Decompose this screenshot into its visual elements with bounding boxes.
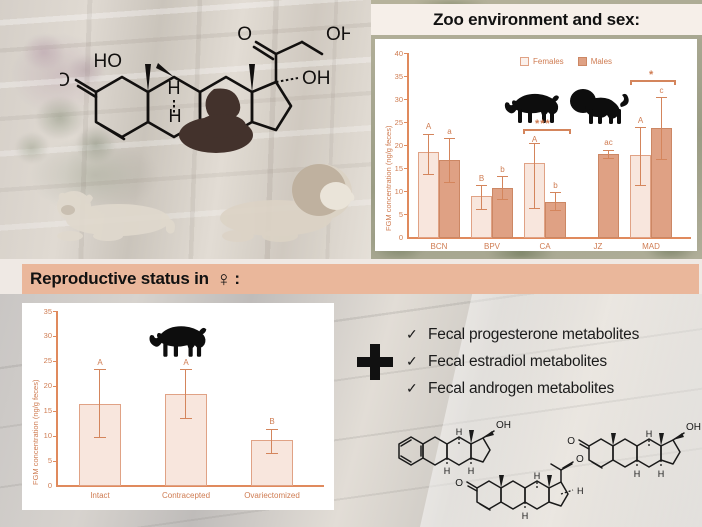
check-icon: ✓: [406, 380, 420, 397]
list-item: ✓ Fecal estradiol metabolites: [406, 353, 696, 371]
legend-label-males: Males: [591, 57, 612, 66]
zoo-sex-chart-card: FGM concentration (ng/g feces) 40 35 30 …: [375, 39, 697, 251]
zoo-ytick-35: 35: [381, 73, 403, 81]
svg-text:O: O: [576, 454, 584, 465]
metabolites-checklist: ✓ Fecal progesterone metabolites ✓ Fecal…: [406, 326, 696, 407]
svg-text:H: H: [646, 429, 653, 439]
zoo-ytick-20: 20: [381, 142, 403, 150]
zoo-ytick-mark-15: [404, 168, 408, 169]
errcap-bottom-intact: [94, 437, 106, 438]
errbar-mad-female: [640, 127, 641, 186]
svg-text:HO: HO: [94, 51, 123, 72]
repro-ytick-mark-25: [53, 361, 57, 362]
repro-ytick-0: 0: [30, 482, 52, 490]
repro-ytick-mark-20: [53, 386, 57, 387]
svg-text:H: H: [577, 486, 584, 496]
errcap-top-contracepted: [180, 369, 192, 370]
repro-ytick-mark-5: [53, 461, 57, 462]
repro-ytick-10: 10: [30, 432, 52, 440]
svg-text:OH: OH: [302, 68, 331, 89]
svg-text:H: H: [522, 511, 529, 521]
errcap-bottom-contracepted: [180, 418, 192, 419]
xtick-jz: JZ: [574, 243, 622, 251]
letter-intact: A: [79, 359, 121, 367]
errcap-bottom-bcn-female: [423, 174, 434, 175]
letter-jz-male: ac: [598, 139, 619, 147]
svg-text:O: O: [567, 436, 575, 447]
svg-text:H: H: [658, 469, 665, 479]
zoo-chart-legend: Females Males: [520, 57, 612, 66]
legend-swatch-females: [520, 57, 529, 66]
repro-ytick-mark-10: [53, 436, 57, 437]
errcap-top-bpv-female: [476, 185, 487, 186]
errbar-ca-male: [555, 192, 556, 211]
progesterone-molecule-structure: [467, 462, 573, 510]
legend-item-males: Males: [578, 57, 612, 66]
errbar-bcn-female: [428, 134, 429, 175]
repro-ytick-mark-30: [53, 336, 57, 337]
svg-text:O: O: [60, 70, 70, 91]
repro-title-suffix: :: [234, 269, 239, 289]
legend-label-females: Females: [533, 57, 564, 66]
legend-swatch-males: [578, 57, 587, 66]
zoo-ytick-30: 30: [381, 96, 403, 104]
bar-jz-male: [598, 154, 619, 238]
xtick-contracepted: Contracepted: [151, 492, 221, 500]
venus-symbol-icon: ♀: [216, 269, 232, 290]
lioness-silhouette-icon-repro: [144, 319, 212, 361]
errcap-bottom-bpv-male: [497, 199, 508, 200]
errcap-bottom-ca-female: [529, 208, 540, 209]
letter-bcn-male: a: [439, 128, 460, 136]
letter-bcn-female: A: [418, 123, 439, 131]
letter-mad-male: c: [651, 87, 672, 95]
reproductive-status-title-bar: Reproductive status in ♀ :: [22, 264, 699, 294]
letter-ca-male: b: [545, 182, 566, 190]
svg-text:H: H: [534, 471, 541, 481]
repro-ytick-5: 5: [30, 457, 52, 465]
errcap-bottom-mad-male: [656, 159, 667, 160]
letter-ca-female: A: [524, 136, 545, 144]
repro-title-prefix: Reproductive status in: [30, 269, 209, 289]
letter-bpv-male: b: [492, 166, 513, 174]
xtick-ca: CA: [521, 243, 569, 251]
check-icon: ✓: [406, 353, 420, 370]
xtick-bcn: BCN: [415, 243, 463, 251]
zoo-panel-title: Zoo environment and sex:: [371, 4, 702, 35]
male-lion-silhouette-icon: [565, 87, 629, 129]
list-item: ✓ Fecal progesterone metabolites: [406, 326, 696, 344]
errbar-mad-male: [661, 97, 662, 160]
check-icon: ✓: [406, 326, 420, 343]
errbar-bpv-male: [502, 176, 503, 200]
letter-contracepted: A: [165, 359, 207, 367]
errcap-bottom-ovariectomized: [266, 453, 278, 454]
zoo-ytick-5: 5: [381, 211, 403, 219]
feces-icon: [170, 85, 260, 160]
svg-text:O: O: [455, 478, 463, 489]
zoo-ytick-mark-10: [404, 191, 408, 192]
errcap-bottom-jz-male: [603, 158, 614, 159]
repro-ytick-30: 30: [30, 332, 52, 340]
graphical-abstract-poster: HO H H O O OH: [0, 0, 702, 527]
errcap-top-bcn-female: [423, 134, 434, 135]
zoo-chart-y-axis: [407, 53, 409, 239]
zoo-ytick-15: 15: [381, 165, 403, 173]
svg-text:H: H: [456, 427, 463, 437]
list-item-label: Fecal progesterone metabolites: [428, 326, 639, 344]
xtick-mad: MAD: [627, 243, 675, 251]
errbar-bcn-male: [449, 138, 450, 183]
errcap-bottom-bcn-male: [444, 182, 455, 183]
errcap-top-mad-female: [635, 127, 646, 128]
repro-ytick-15: 15: [30, 407, 52, 415]
zoo-ytick-mark-30: [404, 99, 408, 100]
zoo-ytick-mark-35: [404, 76, 408, 77]
repro-ytick-35: 35: [30, 308, 52, 316]
svg-text:H: H: [444, 466, 451, 476]
plus-icon: [357, 344, 393, 380]
zoo-ytick-mark-20: [404, 145, 408, 146]
svg-text:OH: OH: [326, 24, 350, 45]
zoo-ytick-mark-25: [404, 122, 408, 123]
list-item-label: Fecal androgen metabolites: [428, 380, 614, 398]
repro-ytick-mark-35: [53, 311, 57, 312]
errbar-contracepted: [185, 369, 186, 419]
zoo-ytick-0: 0: [381, 234, 403, 242]
errcap-bottom-ca-male: [550, 210, 561, 211]
svg-text:H: H: [468, 466, 475, 476]
sig-star-mad: *: [649, 70, 654, 81]
zoo-ytick-40: 40: [381, 50, 403, 58]
errcap-top-intact: [94, 369, 106, 370]
zoo-ytick-10: 10: [381, 188, 403, 196]
repro-ytick-20: 20: [30, 382, 52, 390]
testosterone-molecule-structure: [579, 433, 684, 468]
zoo-ytick-mark-5: [404, 214, 408, 215]
repro-ytick-mark-15: [53, 411, 57, 412]
steroid-molecules-group: H H H OH O O H H H: [395, 398, 702, 527]
lion-habitat-photo: HO H H O O OH: [0, 0, 371, 259]
reproductive-status-bar-chart: FGM concentration (ng/g feces) 35 30 25 …: [22, 303, 334, 510]
svg-text:OH: OH: [686, 422, 701, 433]
letter-bpv-female: B: [471, 175, 492, 183]
zoo-ytick-mark-40: [404, 53, 408, 54]
lioness-silhouette-icon: [502, 87, 562, 127]
zoo-environment-panel: Zoo environment and sex: FGM concentrati…: [371, 0, 702, 259]
errcap-bottom-bpv-female: [476, 209, 487, 210]
errcap-bottom-mad-female: [635, 185, 646, 186]
errcap-top-mad-male: [656, 97, 667, 98]
letter-ovariectomized: B: [251, 418, 293, 426]
errbar-ca-female: [534, 143, 535, 209]
errbar-bpv-female: [481, 185, 482, 210]
errcap-top-ovariectomized: [266, 429, 278, 430]
list-item-label: Fecal estradiol metabolites: [428, 353, 607, 371]
errbar-ovariectomized: [271, 429, 272, 454]
errcap-top-bpv-male: [497, 176, 508, 177]
errcap-top-ca-male: [550, 192, 561, 193]
svg-text:H: H: [634, 469, 641, 479]
sig-stars-ca: ***: [535, 119, 551, 130]
errcap-top-jz-male: [603, 150, 614, 151]
svg-text:O: O: [237, 24, 252, 45]
repro-ytick-25: 25: [30, 357, 52, 365]
reproductive-status-chart-card: FGM concentration (ng/g feces) 35 30 25 …: [22, 303, 334, 510]
zoo-ytick-25: 25: [381, 119, 403, 127]
list-item: ✓ Fecal androgen metabolites: [406, 380, 696, 398]
xtick-intact: Intact: [70, 492, 130, 500]
errcap-top-bcn-male: [444, 138, 455, 139]
legend-item-females: Females: [520, 57, 564, 66]
errbar-intact: [99, 369, 100, 438]
zoo-sex-bar-chart: FGM concentration (ng/g feces) 40 35 30 …: [375, 39, 697, 251]
xtick-bpv: BPV: [468, 243, 516, 251]
letter-mad-female: A: [630, 117, 651, 125]
xtick-ovariectomized: Ovariectomized: [236, 492, 308, 500]
svg-text:OH: OH: [496, 420, 511, 431]
